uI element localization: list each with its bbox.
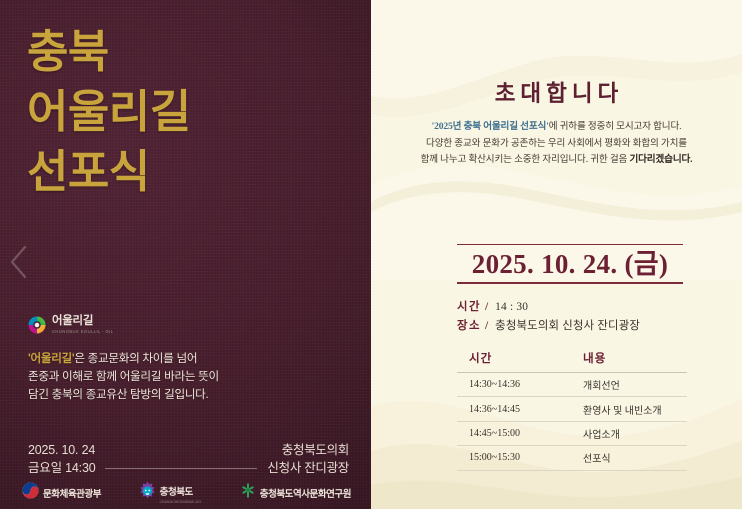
right-panel-content: 초대합니다 '2025년 충북 어울리길 선포식'에 귀하를 정중히 모시고자 … xyxy=(371,0,742,509)
detail-value-venue: 충청북도의회 신청사 잔디광장 xyxy=(495,317,640,336)
detail-label-venue: 장소 xyxy=(457,317,481,336)
detail-value-time: 14 : 30 xyxy=(495,298,528,317)
poster-title: 충북 어울리길 선포식 xyxy=(27,22,347,202)
brand-logo: 어울리길 CHUNGBUK EOULLIL - GIL xyxy=(28,316,113,334)
detail-row-time: 시간 / 14 : 30 xyxy=(457,298,717,317)
invitation-body-line-3-pre: 함께 나누고 확산시키는 소중한 자리입니다. 귀한 걸음 xyxy=(421,154,630,165)
title-line-2: 어울리길 xyxy=(27,82,347,142)
chungbuk-institute-icon xyxy=(239,482,256,504)
poster-right-panel: 초대합니다 '2025년 충북 어울리길 선포식'에 귀하를 정중히 모시고자 … xyxy=(371,0,742,509)
sponsor-label-mcst: 문화체육관광부 xyxy=(43,489,101,500)
footer-venue-line-2: 신청사 잔디광장 xyxy=(267,459,349,477)
chungbuk-mascot-icon xyxy=(139,481,156,505)
description-line-1-rest: 은 종교문화의 차이를 넘어 xyxy=(74,352,197,365)
schedule-time-4: 15:00~15:30 xyxy=(457,446,565,470)
sponsor-label-chungbuk: 충청북도 xyxy=(160,487,193,498)
description-line-2: 존중과 이해로 함께 어울리길 바라는 뜻이 xyxy=(28,370,219,383)
footer-date: 2025. 10. 24 금요일 14:30 xyxy=(28,441,95,477)
invitation-heading: 초대합니다 xyxy=(371,76,742,108)
sponsor-row: 문화체육관광부 충청북도 CHUNGCHEONGBUK-DO xyxy=(22,481,351,505)
schedule-table: 시간 내용 14:30~14:36 개회선언 14:36~14:45 환영사 및… xyxy=(457,350,687,471)
schedule-time-3: 14:45~15:00 xyxy=(457,421,565,445)
invitation-event-name: '2025년 충북 어울리길 선포식' xyxy=(432,121,549,132)
date-rule-bottom xyxy=(457,282,683,283)
sponsor-label-institute: 충청북도역사문화연구원 xyxy=(260,489,351,500)
poster-left-panel: 충북 어울리길 선포식 xyxy=(0,0,371,509)
taegeuk-icon xyxy=(22,482,39,504)
brand-name: 어울리길 xyxy=(52,316,113,328)
eoullilgil-circle-logo-icon xyxy=(28,316,46,334)
schedule-desc-3: 사업소개 xyxy=(565,421,687,445)
invitation-body: '2025년 충북 어울리길 선포식'에 귀하를 정중히 모시고자 합니다. 다… xyxy=(397,119,716,169)
sponsor-chungbuk: 충청북도 CHUNGCHEONGBUK-DO xyxy=(139,481,201,505)
invitation-body-after-name: 에 귀하를 정중히 모시고자 합니다. xyxy=(549,121,682,132)
description-highlight: '어울리길' xyxy=(28,352,74,365)
footer-divider xyxy=(105,468,257,469)
description-line-3: 담긴 충북의 종교유산 탐방의 길입니다. xyxy=(28,388,208,401)
table-row: 14:36~14:45 환영사 및 내빈소개 xyxy=(457,397,687,421)
footer-venue-line-1: 충청북도의회 xyxy=(267,441,349,459)
detail-separator-time: / xyxy=(485,298,488,317)
detail-separator-venue: / xyxy=(485,317,488,336)
footer-date-line-2: 금요일 14:30 xyxy=(28,459,95,477)
brand-subtitle: CHUNGBUK EOULLIL - GIL xyxy=(52,330,113,334)
carousel-prev-button[interactable] xyxy=(8,243,30,281)
invitation-body-line-2: 다양한 종교와 문화가 공존하는 우리 사회에서 평화와 화합의 가치를 xyxy=(426,138,687,149)
sponsor-mcst: 문화체육관광부 xyxy=(22,482,101,504)
invitation-body-line-3-strong: 기다리겠습니다. xyxy=(629,154,692,165)
detail-row-venue: 장소 / 충청북도의회 신청사 잔디광장 xyxy=(457,317,717,336)
schedule-header-desc: 내용 xyxy=(565,350,687,373)
schedule-desc-2: 환영사 및 내빈소개 xyxy=(565,397,687,421)
event-date: 2025. 10. 24. (금) xyxy=(457,245,683,282)
event-poster: 충북 어울리길 선포식 xyxy=(0,0,742,509)
table-row: 14:30~14:36 개회선언 xyxy=(457,373,687,397)
schedule-header-row: 시간 내용 xyxy=(457,350,687,373)
schedule-body: 14:30~14:36 개회선언 14:36~14:45 환영사 및 내빈소개 … xyxy=(457,373,687,471)
chevron-left-icon xyxy=(8,243,30,281)
table-row: 14:45~15:00 사업소개 xyxy=(457,421,687,445)
schedule-desc-1: 개회선언 xyxy=(565,373,687,397)
event-date-block: 2025. 10. 24. (금) xyxy=(457,244,683,284)
title-line-1: 충북 xyxy=(27,22,347,82)
schedule-desc-4: 선포식 xyxy=(565,446,687,470)
footer-info: 2025. 10. 24 금요일 14:30 충청북도의회 신청사 잔디광장 xyxy=(28,441,349,477)
brand-description: '어울리길'은 종교문화의 차이를 넘어 존중과 이해로 함께 어울리길 바라는… xyxy=(28,350,328,404)
schedule-time-2: 14:36~14:45 xyxy=(457,397,565,421)
sponsor-sub-chungbuk: CHUNGCHEONGBUK-DO xyxy=(160,500,201,504)
sponsor-institute: 충청북도역사문화연구원 xyxy=(239,482,351,504)
schedule-time-1: 14:30~14:36 xyxy=(457,373,565,397)
event-details: 시간 / 14 : 30 장소 / 충청북도의회 신청사 잔디광장 xyxy=(457,298,717,335)
schedule-header-time: 시간 xyxy=(457,350,565,373)
footer-venue: 충청북도의회 신청사 잔디광장 xyxy=(267,441,349,477)
title-line-3: 선포식 xyxy=(27,142,347,202)
footer-date-line-1: 2025. 10. 24 xyxy=(28,441,95,459)
detail-label-time: 시간 xyxy=(457,298,481,317)
table-row: 15:00~15:30 선포식 xyxy=(457,446,687,470)
